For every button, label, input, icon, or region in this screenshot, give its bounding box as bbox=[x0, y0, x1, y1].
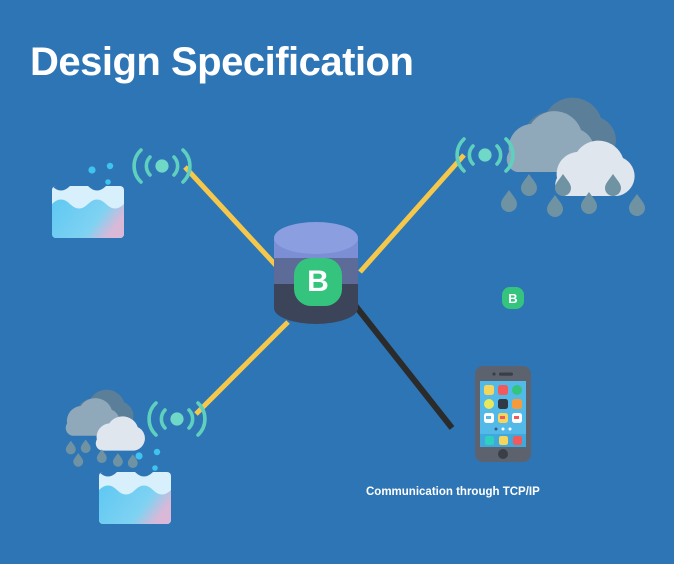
signal-core-icon bbox=[155, 159, 168, 172]
phone-speaker-icon bbox=[499, 373, 513, 376]
phone-home-button[interactable] bbox=[498, 449, 508, 459]
link-bottom-left bbox=[196, 322, 288, 414]
water-sensor-top-left[interactable] bbox=[40, 160, 136, 238]
broker-badge-standalone[interactable]: B bbox=[502, 287, 524, 309]
phone-app-grid bbox=[484, 385, 522, 423]
broker-badge-letter: B bbox=[307, 265, 329, 298]
rain-cloud-top-right[interactable] bbox=[495, 82, 655, 224]
phone-page-dots bbox=[495, 428, 512, 431]
bubble-icon bbox=[105, 179, 111, 185]
page-title: Design Specification bbox=[30, 40, 413, 85]
smartphone[interactable] bbox=[475, 366, 531, 462]
bubble-icon bbox=[152, 465, 158, 471]
signal-top-left[interactable] bbox=[135, 145, 189, 187]
signal-top-right[interactable] bbox=[458, 134, 512, 176]
phone-dock-apps bbox=[485, 436, 522, 445]
bubble-icon bbox=[107, 163, 113, 169]
tcpip-caption: Communication through TCP/IP bbox=[366, 486, 540, 498]
signal-core-icon bbox=[170, 412, 183, 425]
signal-core-icon bbox=[478, 148, 491, 161]
signal-bottom-left[interactable] bbox=[150, 398, 204, 440]
bubble-icon bbox=[88, 166, 95, 173]
diagram-canvas: Design Specification bbox=[0, 0, 674, 564]
water-sensor-bottom-left[interactable] bbox=[87, 446, 183, 524]
broker-badge-standalone-letter: B bbox=[508, 291, 517, 306]
bubble-icon bbox=[154, 449, 160, 455]
database-cylinder[interactable]: B bbox=[268, 222, 368, 334]
link-top-right bbox=[360, 155, 464, 272]
bubble-icon bbox=[135, 452, 142, 459]
phone-camera-icon bbox=[492, 372, 495, 375]
db-top-ellipse bbox=[274, 222, 358, 254]
